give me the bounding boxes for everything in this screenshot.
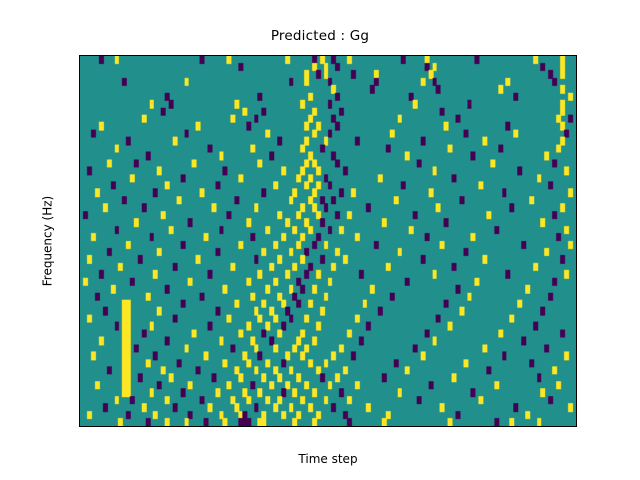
x-tick (469, 426, 470, 427)
x-tick (547, 426, 548, 427)
y-axis-label: Frequency (Hz) (40, 196, 54, 287)
heatmap-canvas[interactable] (80, 56, 576, 426)
x-tick (391, 426, 392, 427)
x-tick (80, 426, 81, 427)
heatmap-axes[interactable]: 020000400006000080000100000120000 020406… (79, 55, 577, 427)
x-tick (158, 426, 159, 427)
chart-title: Predicted : Gg (0, 28, 640, 44)
x-tick (236, 426, 237, 427)
x-axis-label: Time step (79, 452, 577, 466)
matplotlib-figure: Predicted : Gg 0200004000060000800001000… (0, 0, 640, 480)
x-tick (313, 426, 314, 427)
